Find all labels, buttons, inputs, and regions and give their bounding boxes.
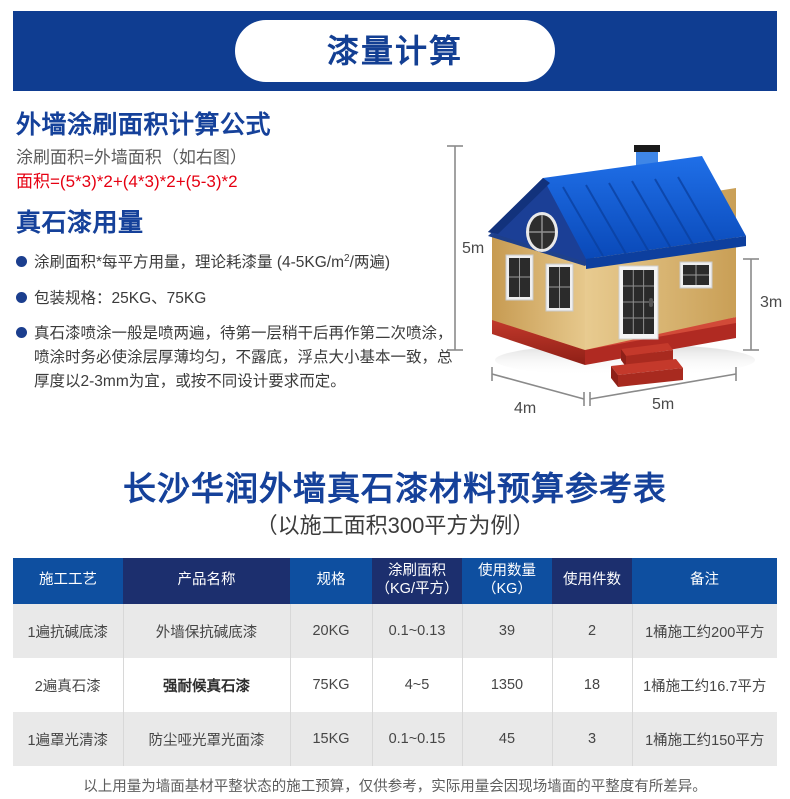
table-row: 1遍抗碱底漆 外墙保抗碱底漆 20KG 0.1~0.13 39 2 1桶施工约2… — [13, 604, 777, 658]
header-banner: 漆量计算 — [13, 11, 777, 91]
budget-table-wrap: 施工工艺 产品名称 规格 涂刷面积（KG/平方） 使用数量（KG） 使用件数 备… — [13, 558, 777, 766]
cell-pieces: 18 — [552, 658, 632, 712]
cell-process: 1遍罩光清漆 — [13, 712, 123, 766]
cell-product: 外墙保抗碱底漆 — [123, 604, 290, 658]
budget-table: 施工工艺 产品名称 规格 涂刷面积（KG/平方） 使用数量（KG） 使用件数 备… — [13, 558, 777, 766]
col-header-pieces: 使用件数 — [552, 558, 632, 604]
usage-heading: 真石漆用量 — [16, 208, 466, 239]
cell-process: 1遍抗碱底漆 — [13, 604, 123, 658]
col-header-coverage: 涂刷面积（KG/平方） — [372, 558, 462, 604]
bullet-dot-icon — [16, 256, 27, 267]
dim-label-wall-height: 3m — [760, 294, 782, 312]
dim-label-total-height: 5m — [462, 240, 484, 258]
col-header-product: 产品名称 — [123, 558, 290, 604]
section-title: 长沙华润外墙真石漆材料预算参考表 — [0, 462, 790, 510]
cell-amount: 45 — [462, 712, 552, 766]
table-row: 1遍罩光清漆 防尘哑光罩光面漆 15KG 0.1~0.15 45 3 1桶施工约… — [13, 712, 777, 766]
cell-amount: 1350 — [462, 658, 552, 712]
cell-amount: 39 — [462, 604, 552, 658]
dim-label-depth: 4m — [514, 400, 536, 418]
cell-spec: 75KG — [290, 658, 372, 712]
cell-product: 防尘哑光罩光面漆 — [123, 712, 290, 766]
formula-heading: 外墙涂刷面积计算公式 — [16, 110, 466, 141]
col-header-amount: 使用数量（KG） — [462, 558, 552, 604]
list-item: 包装规格：25KG、75KG — [16, 287, 466, 311]
dim-label-width: 5m — [652, 396, 674, 414]
page-title: 漆量计算 — [327, 35, 463, 67]
cell-pieces: 3 — [552, 712, 632, 766]
cell-pieces: 2 — [552, 604, 632, 658]
cell-spec: 20KG — [290, 604, 372, 658]
section-subtitle: （以施工面积300平方为例） — [0, 508, 790, 540]
info-column: 外墙涂刷面积计算公式 涂刷面积=外墙面积（如右图） 面积=(5*3)*2+(4*… — [16, 110, 466, 405]
steps-shape — [611, 343, 683, 387]
list-item: 涂刷面积*每平方用量，理论耗漆量 (4-5KG/m2/两遍) — [16, 251, 466, 275]
cell-remark: 1桶施工约16.7平方 — [632, 658, 777, 712]
col-header-remark: 备注 — [632, 558, 777, 604]
bullet-text: 涂刷面积*每平方用量，理论耗漆量 (4-5KG/m2/两遍) — [34, 251, 390, 275]
table-header-row: 施工工艺 产品名称 规格 涂刷面积（KG/平方） 使用数量（KG） 使用件数 备… — [13, 558, 777, 604]
cell-coverage: 4~5 — [372, 658, 462, 712]
window-left-1 — [506, 255, 533, 300]
formula-line-red: 面积=(5*3)*2+(4*3)*2+(5-3)*2 — [16, 171, 466, 194]
cell-remark: 1桶施工约150平方 — [632, 712, 777, 766]
window-left-2 — [546, 264, 573, 311]
usage-bullet-list: 涂刷面积*每平方用量，理论耗漆量 (4-5KG/m2/两遍) 包装规格：25KG… — [16, 251, 466, 393]
formula-line-gray: 涂刷面积=外墙面积（如右图） — [16, 147, 466, 170]
list-item: 真石漆喷涂一般是喷两遍，待第一层稍干后再作第二次喷涂，喷涂时务必使涂层厚薄均匀，… — [16, 322, 466, 394]
cell-coverage: 0.1~0.13 — [372, 604, 462, 658]
house-diagram: 5m 3m 4m 5m — [440, 128, 790, 430]
table-footnote: 以上用量为墙面基材平整状态的施工预算，仅供参考，实际用量会因现场墙面的平整度有所… — [0, 775, 790, 796]
table-body: 1遍抗碱底漆 外墙保抗碱底漆 20KG 0.1~0.13 39 2 1桶施工约2… — [13, 604, 777, 766]
front-door — [619, 266, 658, 339]
cell-product: 强耐候真石漆 — [123, 658, 290, 712]
page-root: 漆量计算 外墙涂刷面积计算公式 涂刷面积=外墙面积（如右图） 面积=(5*3)*… — [0, 0, 790, 799]
bullet-text: 包装规格：25KG、75KG — [34, 287, 206, 311]
bullet-dot-icon — [16, 292, 27, 303]
bullet-dot-icon — [16, 327, 27, 338]
window-right — [680, 262, 712, 288]
cell-coverage: 0.1~0.15 — [372, 712, 462, 766]
cell-remark: 1桶施工约200平方 — [632, 604, 777, 658]
col-header-process: 施工工艺 — [13, 558, 123, 604]
cell-spec: 15KG — [290, 712, 372, 766]
table-row: 2遍真石漆 强耐候真石漆 75KG 4~5 1350 18 1桶施工约16.7平… — [13, 658, 777, 712]
header-pill: 漆量计算 — [235, 20, 555, 82]
house-illustration-svg — [440, 128, 790, 430]
cell-process: 2遍真石漆 — [13, 658, 123, 712]
col-header-spec: 规格 — [290, 558, 372, 604]
bullet-text: 真石漆喷涂一般是喷两遍，待第一层稍干后再作第二次喷涂，喷涂时务必使涂层厚薄均匀，… — [34, 322, 466, 394]
